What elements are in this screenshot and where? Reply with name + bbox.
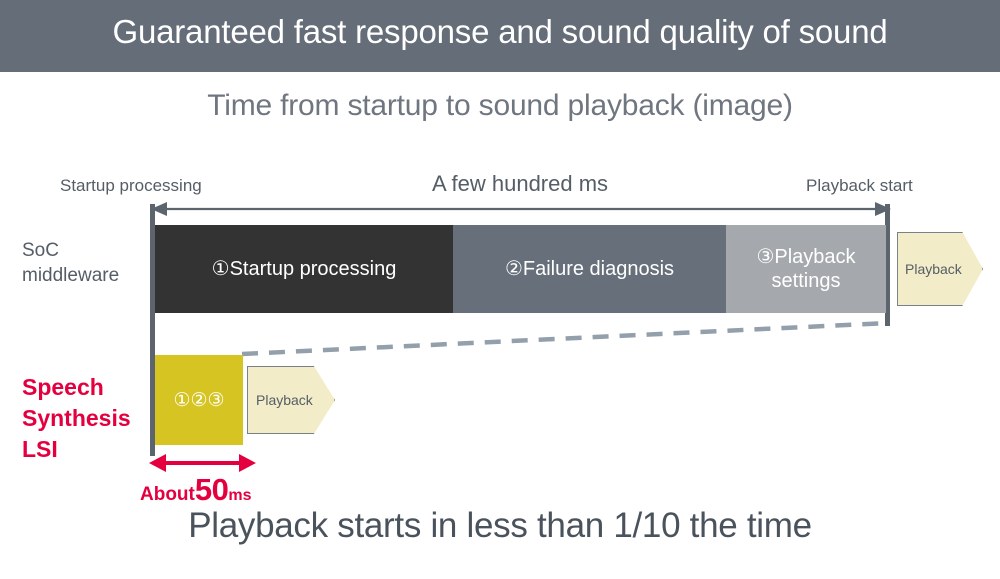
soc-segment-3-label: ③Playback settings [726,245,886,293]
soc-middleware-label: SoC middleware [22,238,119,288]
bottom-caption: Playback starts in less than 1/10 the ti… [0,506,1000,546]
label-startup-processing: Startup processing [60,176,202,196]
lsi-label-line2: Synthesis [22,405,131,431]
about-word: About [140,484,195,506]
soc-playback-arrow-label: Playback [905,261,962,277]
lsi-playback-arrow[interactable]: Playback [247,366,335,434]
lsi-label-line1: Speech [22,374,104,400]
label-playback-start: Playback start [806,176,913,196]
soc-playback-arrow[interactable]: Playback [897,232,983,306]
about-value: 50 [195,472,228,508]
dashed-connector-line [230,312,895,362]
soc-segment-2-label: ②Failure diagnosis [505,257,674,281]
about-50ms-label: About 50 ms [140,472,251,508]
lsi-stage-numbers: ①②③ [173,389,224,412]
about-unit: ms [228,487,251,505]
page-title: Guaranteed fast response and sound quali… [0,13,1000,51]
soc-segment-1-label: ①Startup processing [212,257,397,281]
span-arrow-icon [150,198,892,220]
slide-root: Guaranteed fast response and sound quali… [0,0,1000,579]
lsi-combined-stage-box[interactable]: ①②③ [155,355,243,445]
label-a-few-hundred-ms: A few hundred ms [400,171,640,197]
soc-label-line1: SoC [22,240,59,261]
lsi-label-line3: LSI [22,436,58,462]
soc-segment-playback-settings[interactable]: ③Playback settings [726,225,886,313]
soc-segment-failure-diagnosis[interactable]: ②Failure diagnosis [453,225,726,313]
soc-segment-startup-processing[interactable]: ①Startup processing [155,225,453,313]
speech-synthesis-lsi-label: Speech Synthesis LSI [22,372,131,465]
soc-label-line2: middleware [22,265,119,286]
subtitle: Time from startup to sound playback (ima… [0,89,1000,123]
lsi-playback-arrow-label: Playback [256,392,313,408]
